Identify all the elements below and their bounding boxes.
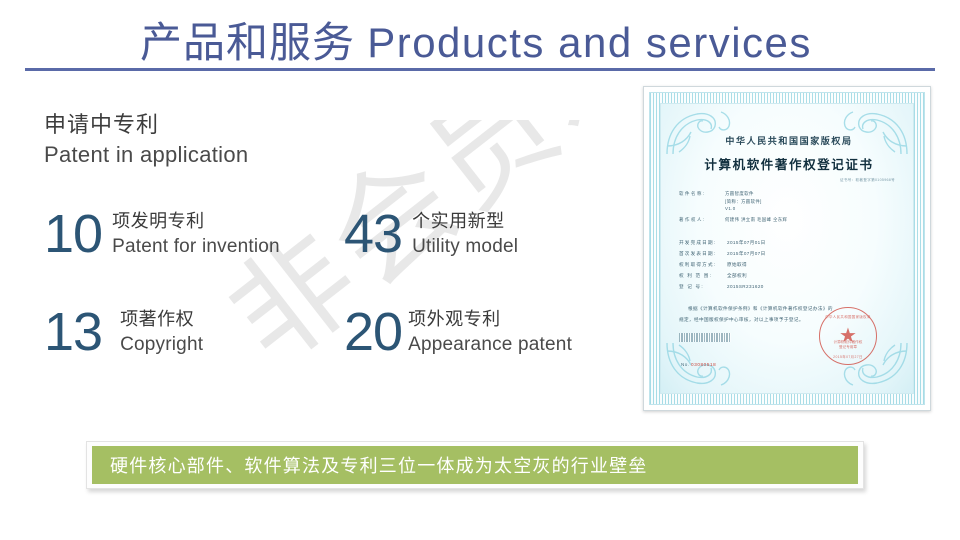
page-title-en: Products and services: [367, 19, 812, 66]
certificate-serial-note: 证书号：软著登字第0105968号: [679, 178, 899, 183]
certificate-detail-row: 开发完成日期: 2015年07月01日: [679, 237, 899, 248]
certificate-barcode: [679, 333, 731, 342]
detail-value: 2015年07月01日: [727, 237, 766, 248]
detail-value: 原始取得: [727, 259, 747, 270]
seal-middle-text: 计算机软件著作权 登记专用章: [820, 340, 876, 350]
field-value: 何建伟 洪立南 毛国峰 仝东辉: [725, 216, 787, 223]
detail-value: 2015SR231620: [727, 281, 764, 292]
certificate-number: No. 03080518: [681, 362, 716, 367]
stats-grid: 10 项发明专利 Patent for invention 43 个实用新型 U…: [44, 205, 644, 401]
certificate-detail-row: 登 记 号: 2015SR231620: [679, 281, 899, 292]
certificate-field-row: 著作权人: 何建伟 洪立南 毛国峰 仝东辉: [679, 216, 899, 223]
stats-row-2: 13 项著作权 Copyright 20 项外观专利 Appearance pa…: [44, 303, 644, 359]
certificate-spacer: [679, 224, 899, 237]
certificate-field-subline: V1.0: [725, 205, 899, 212]
page-title: 产品和服务 Products and services: [140, 9, 812, 70]
stat-labels: 项著作权 Copyright: [120, 303, 203, 358]
stat-item-appearance-patent: 20 项外观专利 Appearance patent: [344, 303, 644, 359]
section-heading-en: Patent in application: [44, 140, 248, 170]
certificate-organization: 中华人民共和国国家版权局: [679, 134, 899, 147]
stat-label-en: Utility model: [412, 234, 518, 260]
certificate-title: 计算机软件著作权登记证书: [679, 154, 899, 173]
stat-item-utility-model: 43 个实用新型 Utility model: [344, 205, 644, 261]
section-heading-cn: 申请中专利: [44, 110, 248, 140]
field-key: 著作权人:: [679, 216, 725, 223]
page-title-cn: 产品和服务: [140, 19, 355, 66]
certificate-detail-row: 权 利 范 围: 全部权利: [679, 270, 899, 281]
stat-item-copyright: 13 项著作权 Copyright: [44, 303, 344, 359]
stat-labels: 项外观专利 Appearance patent: [408, 303, 572, 358]
slide-root: 产品和服务 Products and services 非会员水印 申请中专利 …: [0, 0, 960, 540]
official-seal-stamp: 中华人民共和国国家版权局 ★ 计算机软件著作权 登记专用章 2015年07月27…: [819, 307, 877, 365]
seal-ring-top-text: 中华人民共和国国家版权局: [820, 314, 876, 319]
certificate-fields: 软件名称: 方圆智度软件 [简称：方圆软件] V1.0 著作权人: 何建伟 洪立…: [679, 190, 899, 223]
certificate-content: 中华人民共和国国家版权局 计算机软件著作权登记证书 证书号：软著登字第01059…: [679, 134, 899, 385]
stat-number: 13: [44, 303, 102, 359]
slide-header: 产品和服务 Products and services: [0, 0, 960, 72]
stat-labels: 项发明专利 Patent for invention: [112, 205, 280, 260]
stat-label-cn: 项发明专利: [112, 209, 280, 234]
certificate-detail-rows: 开发完成日期: 2015年07月01日 首次发表日期: 2015年07月07日 …: [679, 237, 899, 292]
detail-key: 首次发表日期:: [679, 248, 727, 259]
stat-item-patent-for-invention: 10 项发明专利 Patent for invention: [44, 205, 344, 261]
certificate-detail-row: 首次发表日期: 2015年07月07日: [679, 248, 899, 259]
detail-key: 开发完成日期:: [679, 237, 727, 248]
certificate-field-subline: [简称：方圆软件]: [725, 198, 899, 205]
detail-value: 2015年07月07日: [727, 248, 766, 259]
stat-labels: 个实用新型 Utility model: [412, 205, 518, 260]
stats-row-1: 10 项发明专利 Patent for invention 43 个实用新型 U…: [44, 205, 644, 261]
highlight-banner-text: 硬件核心部件、软件算法及专利三位一体成为太空灰的行业壁垒: [92, 452, 648, 478]
detail-key: 权利取得方式:: [679, 259, 727, 270]
seal-middle-line-2: 登记专用章: [820, 345, 876, 350]
stat-label-cn: 项著作权: [120, 307, 203, 332]
title-divider: [25, 68, 935, 71]
stat-label-en: Patent for invention: [112, 234, 280, 260]
highlight-banner: 硬件核心部件、软件算法及专利三位一体成为太空灰的行业壁垒: [92, 446, 858, 484]
certificate-number-label: No.: [681, 362, 689, 367]
detail-value: 全部权利: [727, 270, 747, 281]
detail-key: 登 记 号:: [679, 281, 727, 292]
field-value: 方圆智度软件: [725, 190, 754, 197]
stat-label-en: Appearance patent: [408, 332, 572, 358]
stat-number: 10: [44, 205, 102, 261]
field-key: 软件名称:: [679, 190, 725, 197]
stat-number: 43: [344, 205, 402, 261]
certificate-number-value: 03080518: [691, 362, 716, 367]
stat-label-cn: 项外观专利: [408, 307, 572, 332]
certificate-detail-row: 权利取得方式: 原始取得: [679, 259, 899, 270]
stat-number: 20: [344, 303, 402, 359]
stat-label-cn: 个实用新型: [412, 209, 518, 234]
detail-key: 权 利 范 围:: [679, 270, 727, 281]
stat-label-en: Copyright: [120, 332, 203, 358]
certificate-paper: 中华人民共和国国家版权局 计算机软件著作权登记证书 证书号：软著登字第01059…: [649, 92, 925, 405]
section-heading: 申请中专利 Patent in application: [44, 110, 248, 170]
seal-ring-bottom-text: 2015年07月27日: [820, 354, 876, 359]
certificate-field-row: 软件名称: 方圆智度软件: [679, 190, 899, 197]
certificate-inner-panel: 中华人民共和国国家版权局 计算机软件著作权登记证书 证书号：软著登字第01059…: [660, 103, 914, 394]
copyright-certificate-image: 中华人民共和国国家版权局 计算机软件著作权登记证书 证书号：软著登字第01059…: [643, 86, 931, 411]
